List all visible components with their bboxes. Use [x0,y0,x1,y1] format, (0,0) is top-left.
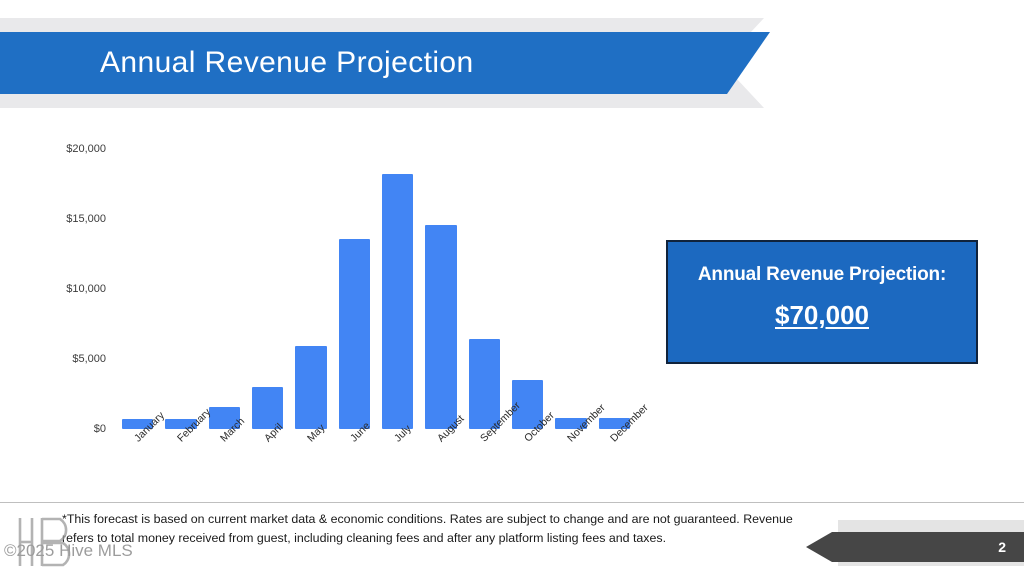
chart-bar [425,225,456,429]
chart-bar-slot [246,138,289,429]
watermark: ©2025 Hive MLS [4,512,194,574]
chart-bar [382,174,413,429]
y-axis-tick-label: $0 [94,423,106,435]
page-number-banner: 2 [806,520,1024,572]
callout-title: Annual Revenue Projection: [668,264,976,286]
chart-bar-slot [463,138,506,429]
chart-plot-area [116,138,636,429]
chart-bar-slot [419,138,462,429]
y-axis-tick-label: $5,000 [72,353,106,365]
annual-revenue-callout: Annual Revenue Projection: $70,000 [666,240,978,364]
chart-x-axis: JanuaryFebruaryMarchAprilMayJuneJulyAugu… [116,432,636,492]
page-title: Annual Revenue Projection [100,32,474,94]
chart-bar [339,239,370,429]
callout-amount: $70,000 [668,300,976,331]
page-number: 2 [806,532,1006,562]
chart-bar-slot [376,138,419,429]
header-banner: Annual Revenue Projection [0,0,1024,120]
chart-bar-slot [289,138,332,429]
chart-bar [295,346,326,429]
chart-bar-slot [506,138,549,429]
y-axis-tick-label: $15,000 [66,213,106,225]
chart-y-axis: $0$5,000$10,000$15,000$20,000 [40,138,112,434]
chart-bar-slot [116,138,159,429]
y-axis-tick-label: $20,000 [66,143,106,155]
watermark-text: ©2025 Hive MLS [4,541,133,561]
chart-bar-slot [333,138,376,429]
revenue-bar-chart: $0$5,000$10,000$15,000$20,000 JanuaryFeb… [40,138,640,488]
chart-bar-slot [593,138,636,429]
footnote-divider [0,502,1024,503]
y-axis-tick-label: $10,000 [66,283,106,295]
chart-bar-slot [549,138,592,429]
chart-bar-slot [203,138,246,429]
chart-bar-slot [159,138,202,429]
chart-bar [469,339,500,429]
